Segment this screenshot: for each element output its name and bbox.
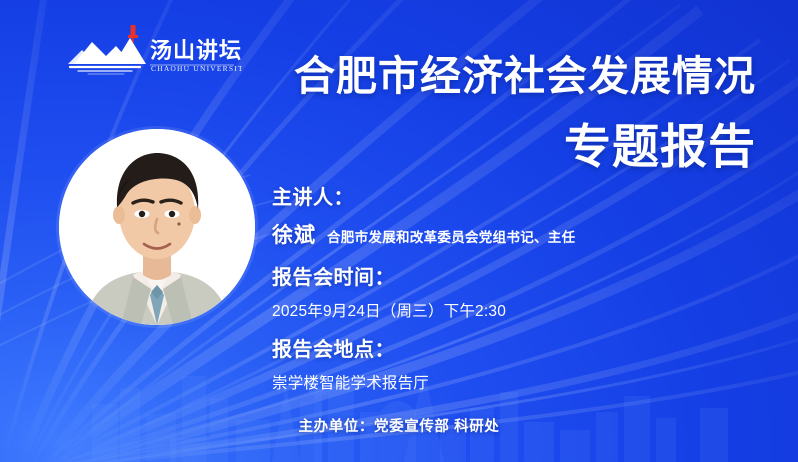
place-value: 崇学楼智能学术报告厅 (272, 371, 692, 393)
speaker-row: 徐斌 合肥市发展和改革委员会党组书记、主任 (272, 219, 692, 249)
speaker-role: 合肥市发展和改革委员会党组书记、主任 (327, 226, 575, 246)
title-line-1: 合肥市经济社会发展情况 (294, 56, 756, 97)
mountain-logo-icon: 汤山讲坛 CHAOHU UNIVERSITY (62, 24, 242, 78)
event-poster: 汤山讲坛 CHAOHU UNIVERSITY (0, 0, 798, 462)
poster-title: 合肥市经济社会发展情况 专题报告 (294, 56, 756, 170)
title-line-2: 专题报告 (294, 123, 756, 170)
spacer (272, 321, 692, 338)
place-label: 报告会地点： (272, 338, 692, 362)
time-label: 报告会时间： (272, 266, 692, 290)
portrait-illustration (59, 129, 255, 325)
event-details: 主讲人： 徐斌 合肥市发展和改革委员会党组书记、主任 报告会时间： 2025年9… (272, 186, 692, 393)
brand-logo: 汤山讲坛 CHAOHU UNIVERSITY (62, 24, 242, 78)
speaker-portrait (59, 129, 255, 325)
organizer-line: 主办单位：党委宣传部 科研处 (0, 415, 798, 436)
speaker-name: 徐斌 (272, 219, 316, 249)
time-value: 2025年9月24日（周三）下午2:30 (272, 299, 692, 321)
logo-name-cn: 汤山讲坛 (150, 38, 242, 63)
spacer (272, 249, 692, 266)
speaker-label: 主讲人： (272, 186, 692, 210)
